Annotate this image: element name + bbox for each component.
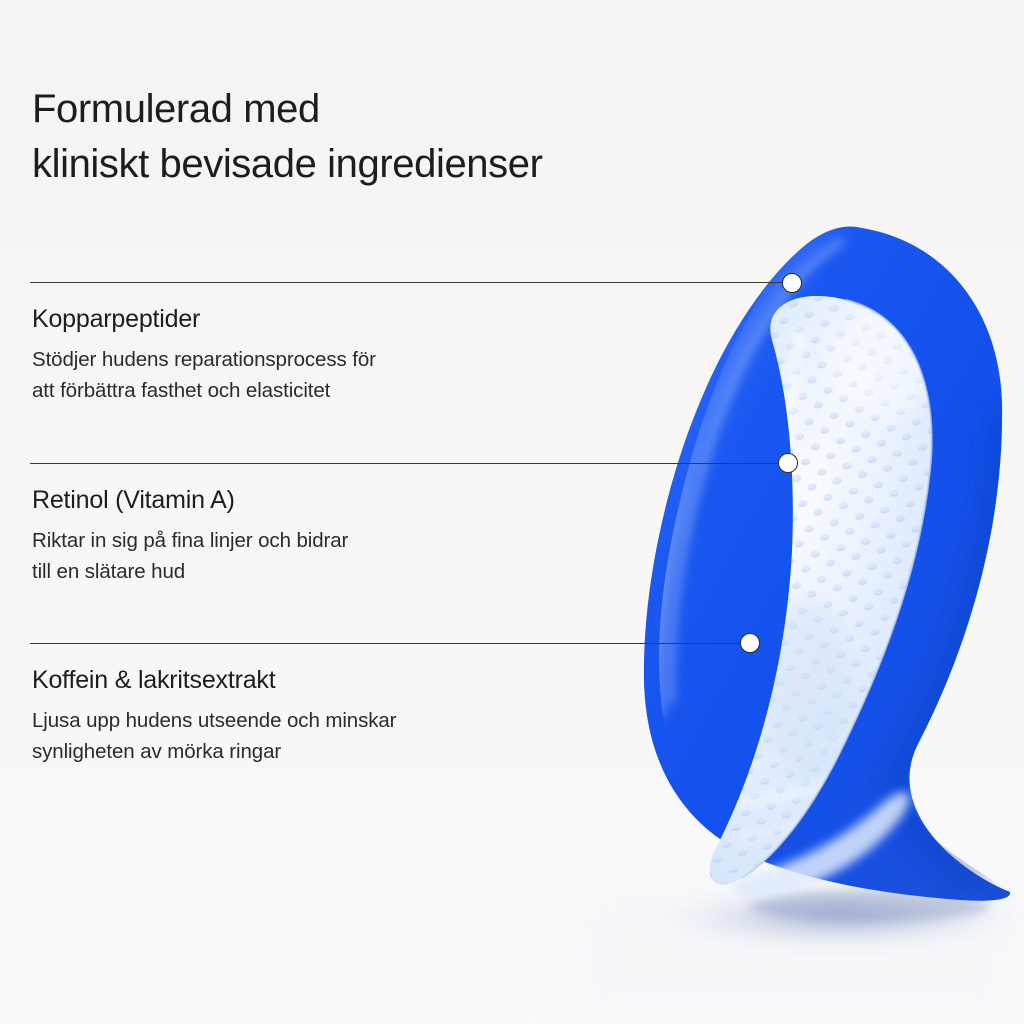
feature-description-line-2: till en slätare hud (32, 556, 552, 587)
headline-line-2: kliniskt bevisade ingredienser (32, 137, 732, 192)
feature-description: Ljusa upp hudens utseende och minskar sy… (32, 705, 552, 767)
feature-divider (32, 282, 552, 283)
page-title: Formulerad med kliniskt bevisade ingredi… (32, 82, 732, 192)
headline-line-1: Formulerad med (32, 82, 732, 137)
feature-divider (32, 643, 552, 644)
feature-description-line-1: Ljusa upp hudens utseende och minskar (32, 705, 552, 736)
feature-description-line-2: synligheten av mörka ringar (32, 736, 552, 767)
feature-divider (32, 463, 552, 464)
feature-block-retinol: Retinol (Vitamin A) Riktar in sig på fin… (32, 463, 552, 587)
feature-description: Stödjer hudens reparationsprocess för at… (32, 344, 552, 406)
feature-block-koffein-lakrits: Koffein & lakritsextrakt Ljusa upp huden… (32, 643, 552, 767)
feature-title: Kopparpeptider (32, 304, 552, 334)
feature-title: Retinol (Vitamin A) (32, 485, 552, 515)
feature-description-line-1: Stödjer hudens reparationsprocess för (32, 344, 552, 375)
product-feature-panel: Formulerad med kliniskt bevisade ingredi… (0, 0, 1024, 1024)
feature-description-line-2: att förbättra fasthet och elasticitet (32, 375, 552, 406)
feature-description: Riktar in sig på fina linjer och bidrar … (32, 525, 552, 587)
feature-title: Koffein & lakritsextrakt (32, 665, 552, 695)
feature-description-line-1: Riktar in sig på fina linjer och bidrar (32, 525, 552, 556)
feature-block-kopparpeptider: Kopparpeptider Stödjer hudens reparation… (32, 282, 552, 406)
